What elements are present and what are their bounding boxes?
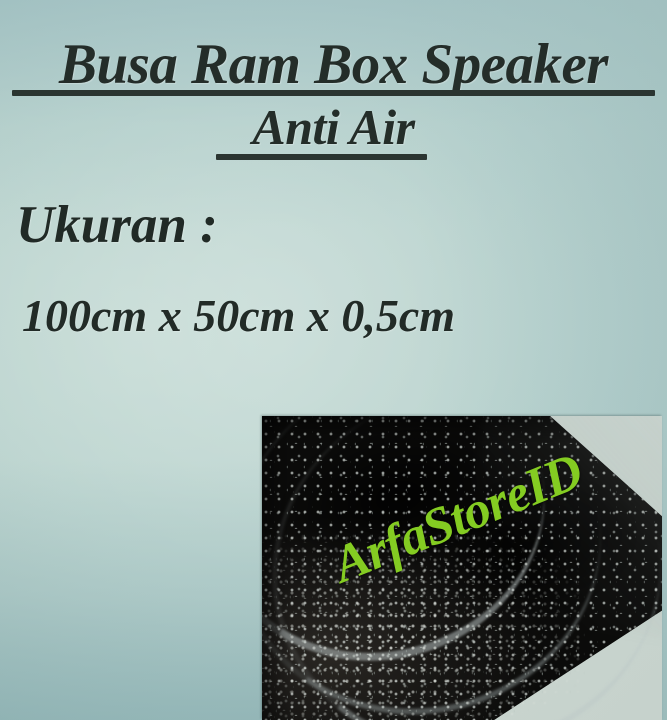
dimensions-value: 100cm x 50cm x 0,5cm <box>22 291 455 341</box>
product-title-line-2: Anti Air <box>0 101 667 153</box>
size-label: Ukuran : <box>16 197 218 253</box>
product-listing-image: Busa Ram Box Speaker Anti Air Ukuran : 1… <box>0 0 667 720</box>
title-underline-2 <box>216 154 427 160</box>
product-photo <box>262 416 662 720</box>
title-underline-1 <box>12 90 655 96</box>
product-title-line-1: Busa Ram Box Speaker <box>0 36 667 94</box>
